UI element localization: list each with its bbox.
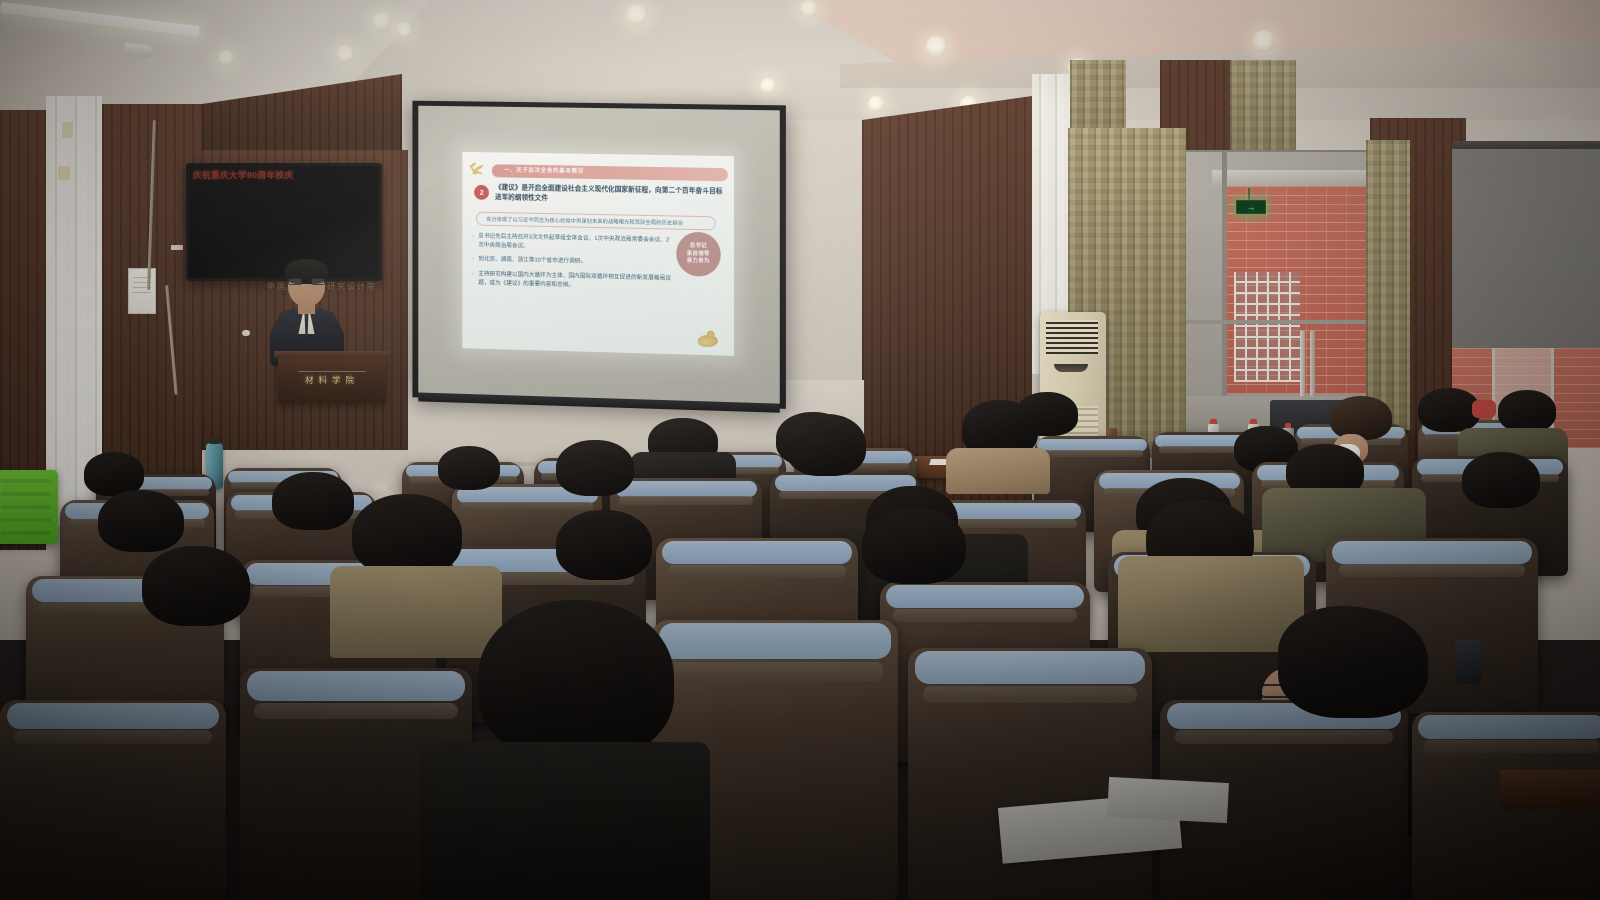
- exit-arrow-icon: →: [1247, 203, 1256, 212]
- roller-blind-headrail: [1452, 141, 1600, 149]
- podium-plate: 材料学院: [298, 371, 366, 386]
- audience-head-foreground: [478, 600, 674, 760]
- auditorium-seat[interactable]: [908, 648, 1152, 900]
- security-camera-icon: [120, 44, 154, 62]
- tape-mark: [58, 166, 70, 180]
- audience-head: [786, 414, 866, 476]
- roller-blind[interactable]: [1452, 148, 1600, 348]
- audience-coat: [330, 566, 502, 658]
- audience-head: [98, 490, 184, 552]
- audience-coat: [420, 742, 710, 900]
- projection-surface: 一、关于这次全会的基本情况 2 《建议》是开启全面建设社会主义现代化国家新征程，…: [418, 106, 779, 404]
- audience-head: [1418, 388, 1480, 432]
- tape-mark: [62, 122, 73, 138]
- ceiling-downlight: [372, 12, 392, 32]
- ac-handle: [1054, 364, 1088, 372]
- slide-bullet: 到北京、湖南、浙江等10个省市进行调研。: [478, 256, 586, 267]
- microphone-icon: [244, 330, 248, 356]
- audience-head: [142, 546, 250, 626]
- ceiling-downlight: [868, 96, 884, 112]
- audience-head: [862, 508, 966, 584]
- podium: 材料学院: [278, 355, 386, 403]
- cpc-hammer-sickle-emblem: [469, 161, 487, 179]
- audience-head: [1498, 390, 1556, 432]
- paper-sheet: [1107, 777, 1229, 823]
- slide-lead-text: 《建议》是开启全面建设社会主义现代化国家新征程，向第二个百年奋斗目标进军的纲领性…: [495, 184, 728, 207]
- ceiling-downlight: [396, 22, 413, 39]
- audience-head: [438, 446, 500, 490]
- lecture-hall-photo: 庆祝重庆大学90周年校庆 中国城乡建设研究设计院 一、关于这次全会的基本情况 2…: [0, 0, 1600, 900]
- glasses-icon: [288, 278, 325, 285]
- slide-bullet: 总书记先后主持召开3次文件起草组全体会议、1次中央政治局常委会会议、2次中央政治…: [478, 233, 673, 254]
- wall-outlet: [171, 245, 183, 250]
- audience-head: [1462, 452, 1540, 508]
- smartphone[interactable]: [1455, 640, 1481, 684]
- audience-head: [556, 510, 652, 580]
- audience-head: [1278, 608, 1428, 718]
- slide-item-number-badge: 2: [474, 185, 489, 200]
- ceiling-downlight: [1253, 30, 1275, 52]
- ceiling-downlight: [800, 0, 818, 18]
- wall-socket: [375, 483, 387, 491]
- slide-section-title-bar: 一、关于这次全会的基本情况: [492, 165, 727, 182]
- audience-head: [352, 494, 462, 576]
- podium-top: [274, 351, 390, 358]
- slide-circle-badge: 总书记 亲自领导 亲力亲为: [676, 232, 720, 277]
- slide-decorative-ornament: [696, 333, 718, 347]
- badge-line: 亲力亲为: [687, 258, 710, 266]
- slide-section-title: 一、关于这次全会的基本情况: [504, 165, 584, 179]
- ceiling-downlight: [218, 50, 235, 67]
- audience-head: [1016, 392, 1078, 436]
- slide-quote-text: 充分体现了以习近平同志为核心的党中央谋划未来的战略眼光和驾驭全局的历史担当: [486, 216, 683, 227]
- audience-head: [1330, 396, 1392, 440]
- slide-quote-pill: 充分体现了以习近平同志为核心的党中央谋划未来的战略眼光和驾驭全局的历史担当: [476, 212, 715, 231]
- tv-banner-text: 庆祝重庆大学90周年校庆: [193, 168, 345, 182]
- audience-scarf: [1472, 400, 1496, 418]
- green-plastic-chair[interactable]: [0, 470, 58, 544]
- slide-bullet: 主持研究构建以国内大循环为主体、国内国际双循环相互促进的新发展格局议题，成为《建…: [478, 271, 673, 292]
- ceiling-downlight: [626, 4, 648, 26]
- audience-head: [556, 440, 634, 496]
- audience-head: [272, 472, 354, 530]
- notice-sheet: [128, 268, 156, 314]
- ceiling-downlight: [760, 78, 776, 94]
- curtain: [1366, 140, 1410, 430]
- emergency-exit-sign: →: [1236, 200, 1266, 214]
- desk-front-right: [1500, 770, 1600, 810]
- ceiling-downlight: [336, 45, 355, 64]
- audience-coat: [946, 448, 1050, 494]
- projection-screen: 一、关于这次全会的基本情况 2 《建议》是开启全面建设社会主义现代化国家新征程，…: [412, 101, 785, 409]
- projected-slide: 一、关于这次全会的基本情况 2 《建议》是开启全面建设社会主义现代化国家新征程，…: [463, 152, 734, 355]
- speaker-presenter: [262, 262, 352, 362]
- window-grille-outside: [1234, 272, 1300, 382]
- window-mullion: [1182, 320, 1370, 324]
- audience-coat: [1118, 556, 1304, 652]
- building-eave: [1212, 170, 1370, 186]
- podium-plaque-text: 材料学院: [298, 374, 366, 387]
- ceiling-downlight: [926, 36, 947, 57]
- auditorium-seat[interactable]: [0, 700, 226, 900]
- ac-vent-icon: [1046, 320, 1098, 354]
